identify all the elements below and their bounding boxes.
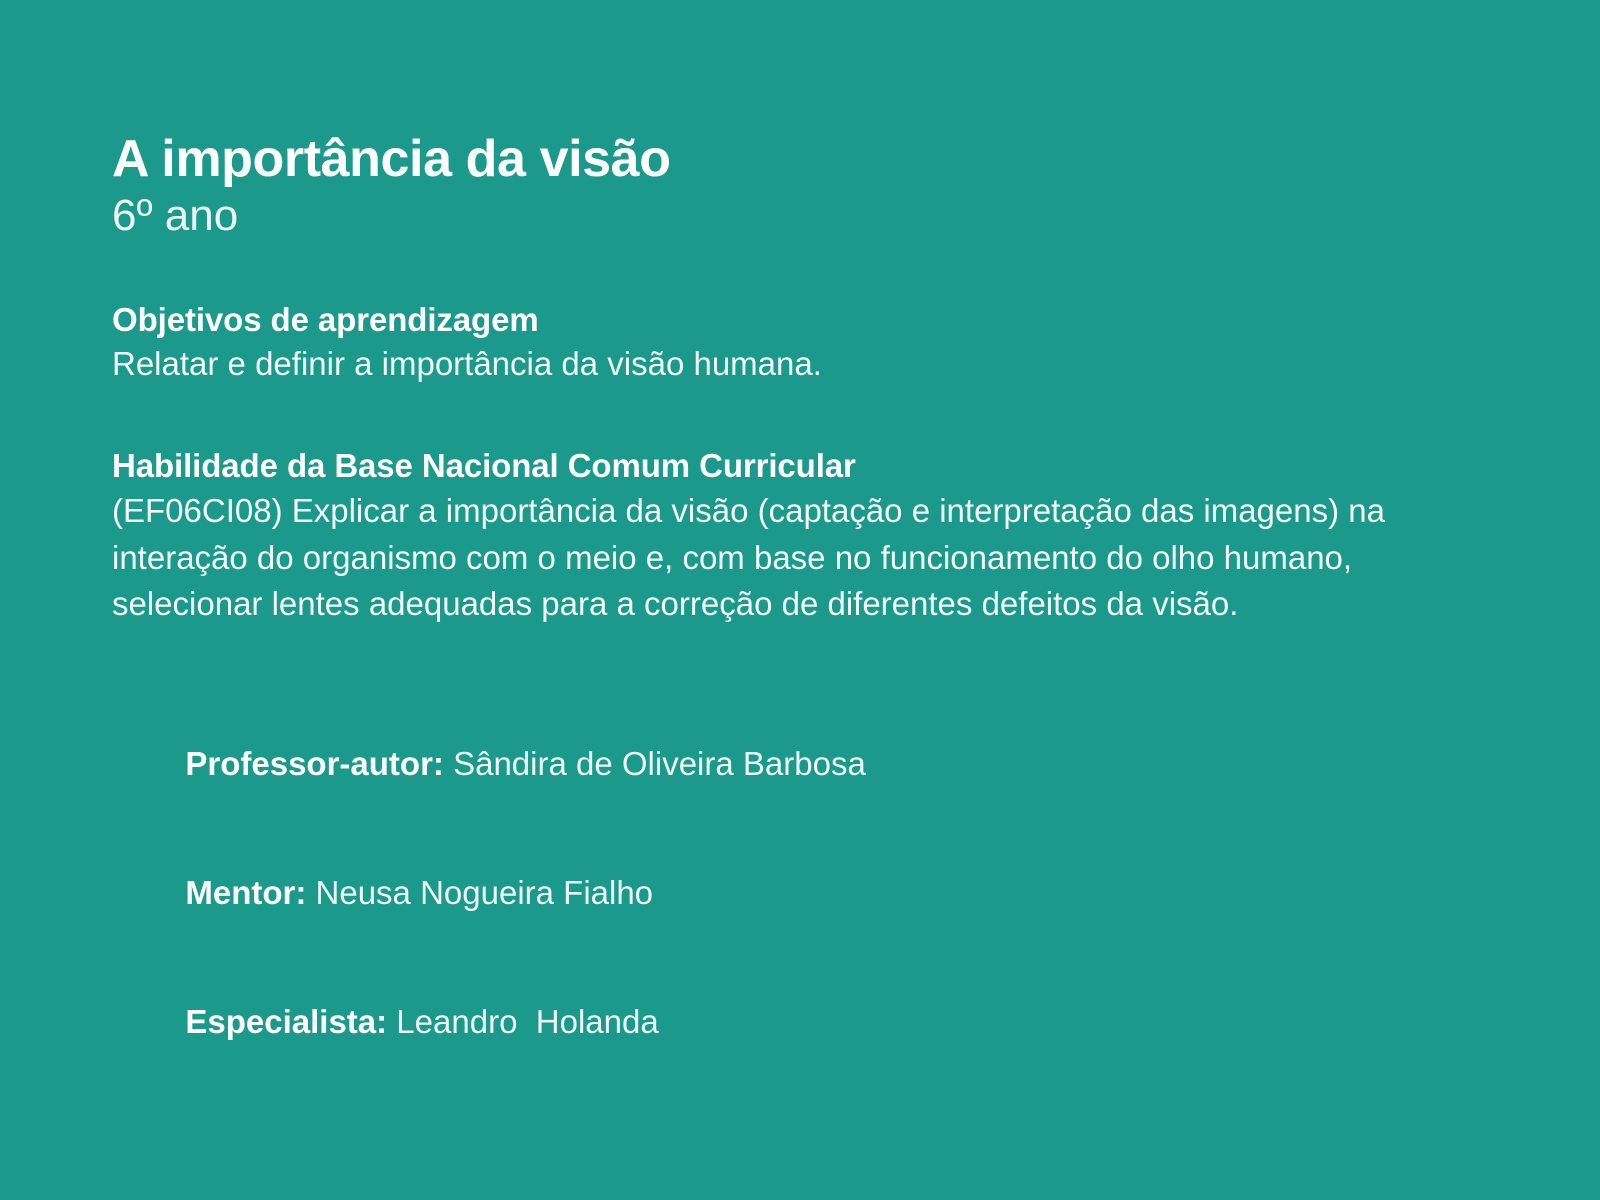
credits-section: Professor-autor: Sândira de Oliveira Bar… bbox=[112, 700, 1472, 1086]
credit-value-professor-autor: Sândira de Oliveira Barbosa bbox=[444, 745, 866, 782]
credit-line-professor-autor: Professor-autor: Sândira de Oliveira Bar… bbox=[112, 700, 1472, 829]
credit-line-especialista: Especialista: Leandro Holanda bbox=[112, 958, 1472, 1087]
credit-label-especialista: Especialista: bbox=[185, 1003, 387, 1040]
title-block: A importância da visão 6º ano bbox=[112, 132, 1472, 242]
bncc-skill-section: Habilidade da Base Nacional Comum Curric… bbox=[112, 446, 1472, 628]
learning-objectives-heading: Objetivos de aprendizagem bbox=[112, 300, 1472, 340]
credit-label-professor-autor: Professor-autor: bbox=[185, 745, 444, 782]
credit-line-mentor: Mentor: Neusa Nogueira Fialho bbox=[112, 829, 1472, 958]
slide-canvas: A importância da visão 6º ano Objetivos … bbox=[0, 0, 1600, 1200]
slide-content: A importância da visão 6º ano Objetivos … bbox=[112, 132, 1472, 1086]
learning-objectives-section: Objetivos de aprendizagem Relatar e defi… bbox=[112, 300, 1472, 388]
credit-value-especialista: Leandro Holanda bbox=[387, 1003, 659, 1040]
page-subtitle: 6º ano bbox=[112, 191, 1472, 242]
learning-objectives-body: Relatar e definir a importância da visão… bbox=[112, 341, 1442, 388]
credit-label-mentor: Mentor: bbox=[185, 874, 306, 911]
bncc-skill-heading: Habilidade da Base Nacional Comum Curric… bbox=[112, 446, 1472, 486]
bncc-skill-body: (EF06CI08) Explicar a importância da vis… bbox=[112, 488, 1442, 629]
credit-value-mentor: Neusa Nogueira Fialho bbox=[306, 874, 653, 911]
page-title: A importância da visão bbox=[112, 132, 1472, 187]
